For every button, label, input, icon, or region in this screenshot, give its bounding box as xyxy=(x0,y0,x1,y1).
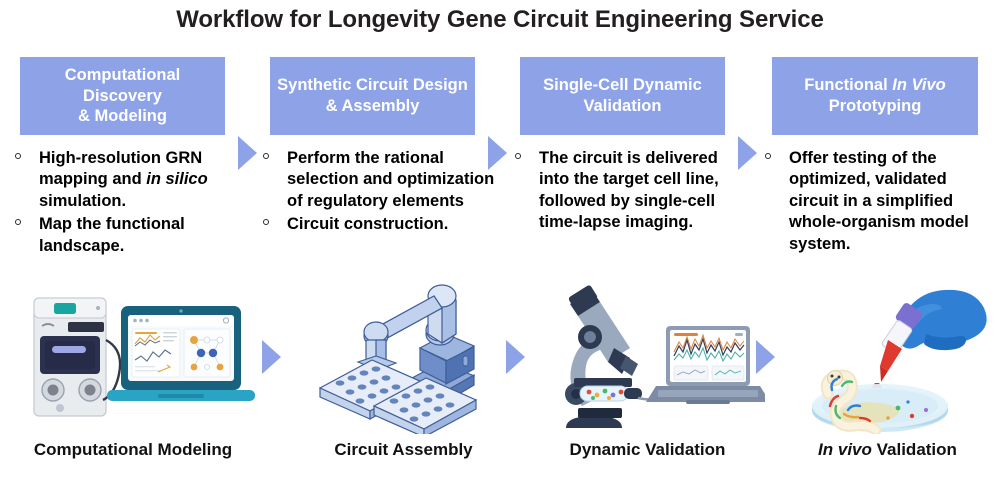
bullet-circle-icon xyxy=(15,153,21,159)
bullet-column-functional-in-vivo: Offer testing of the optimized, validate… xyxy=(762,148,1000,257)
bullet-column-single-cell-validation: The circuit is delivered into the target… xyxy=(512,148,742,236)
list-item-text: Offer testing of the optimized, validate… xyxy=(789,149,969,253)
list-item-text: The circuit is delivered into the target… xyxy=(539,149,719,231)
list-item-text: Circuit construction. xyxy=(287,215,448,233)
list-item: High-resolution GRN mapping and in silic… xyxy=(12,148,250,212)
stage-header-text: Functional xyxy=(804,76,892,94)
caption-dynamic-validation: Dynamic Validation xyxy=(530,440,765,460)
bullet-circle-icon xyxy=(263,153,269,159)
illustration-robotic-arm-well-plates xyxy=(300,282,515,434)
stage-header-computational-discovery: Computational Discovery& Modeling xyxy=(20,57,225,135)
stage-header-synthetic-circuit-design: Synthetic Circuit Design & Assembly xyxy=(270,57,475,135)
bullet-circle-icon xyxy=(515,153,521,159)
list-item: Offer testing of the optimized, validate… xyxy=(762,148,1000,255)
stage-header-text: Synthetic Circuit Design & Assembly xyxy=(276,75,469,117)
list-item-text-italic: in silico xyxy=(146,170,207,188)
chevron-right-icon xyxy=(262,340,281,374)
list-item-text: Perform the rational selection and optim… xyxy=(287,149,494,210)
illustration-sequencer-and-laptop-dashboard xyxy=(8,282,258,434)
illustration-petri-dish-gloved-hand-pipette xyxy=(780,282,995,434)
caption-computational-modeling: Computational Modeling xyxy=(8,440,258,460)
bullet-circle-icon xyxy=(765,153,771,159)
list-item-text: Map the functional landscape. xyxy=(39,215,185,254)
bullet-circle-icon xyxy=(263,219,269,225)
caption-row: Computational Modeling Circuit Assembly … xyxy=(0,440,1000,470)
illustration-microscope-and-laptop-traces xyxy=(530,282,765,434)
stage-header-text-cont: Prototyping xyxy=(829,97,922,115)
stage-header-text-cont: & Modeling xyxy=(78,107,167,125)
workflow-diagram: Workflow for Longevity Gene Circuit Engi… xyxy=(0,0,1000,478)
caption-circuit-assembly: Circuit Assembly xyxy=(296,440,511,460)
page-title: Workflow for Longevity Gene Circuit Engi… xyxy=(0,6,1000,34)
bullet-circle-icon xyxy=(15,219,21,225)
stage-header-text-italic: In Vivo xyxy=(892,76,945,94)
list-item: Circuit construction. xyxy=(260,214,498,235)
stage-bullets-row: High-resolution GRN mapping and in silic… xyxy=(0,148,1000,278)
illustration-row: C. elegans xyxy=(0,282,1000,434)
stage-header-text: Computational Discovery xyxy=(65,66,181,105)
chevron-right-icon xyxy=(506,340,525,374)
list-item: The circuit is delivered into the target… xyxy=(512,148,742,234)
caption-text-italic: In vivo xyxy=(818,440,872,459)
chevron-right-icon xyxy=(756,340,775,374)
list-item: Perform the rational selection and optim… xyxy=(260,148,498,212)
bullet-column-synthetic-circuit-design: Perform the rational selection and optim… xyxy=(260,148,498,238)
stage-header-text: Single-Cell Dynamic Validation xyxy=(526,75,719,117)
bullet-column-computational-discovery: High-resolution GRN mapping and in silic… xyxy=(12,148,250,259)
caption-text: Validation xyxy=(872,440,957,459)
stage-header-functional-in-vivo: Functional In Vivo Prototyping xyxy=(772,57,978,135)
list-item-text-tail: simulation. xyxy=(39,192,126,210)
stage-header-single-cell-validation: Single-Cell Dynamic Validation xyxy=(520,57,725,135)
caption-in-vivo-validation: In vivo Validation xyxy=(780,440,995,460)
stage-header-row: Computational Discovery& Modeling Synthe… xyxy=(0,57,1000,135)
list-item: Map the functional landscape. xyxy=(12,214,250,257)
